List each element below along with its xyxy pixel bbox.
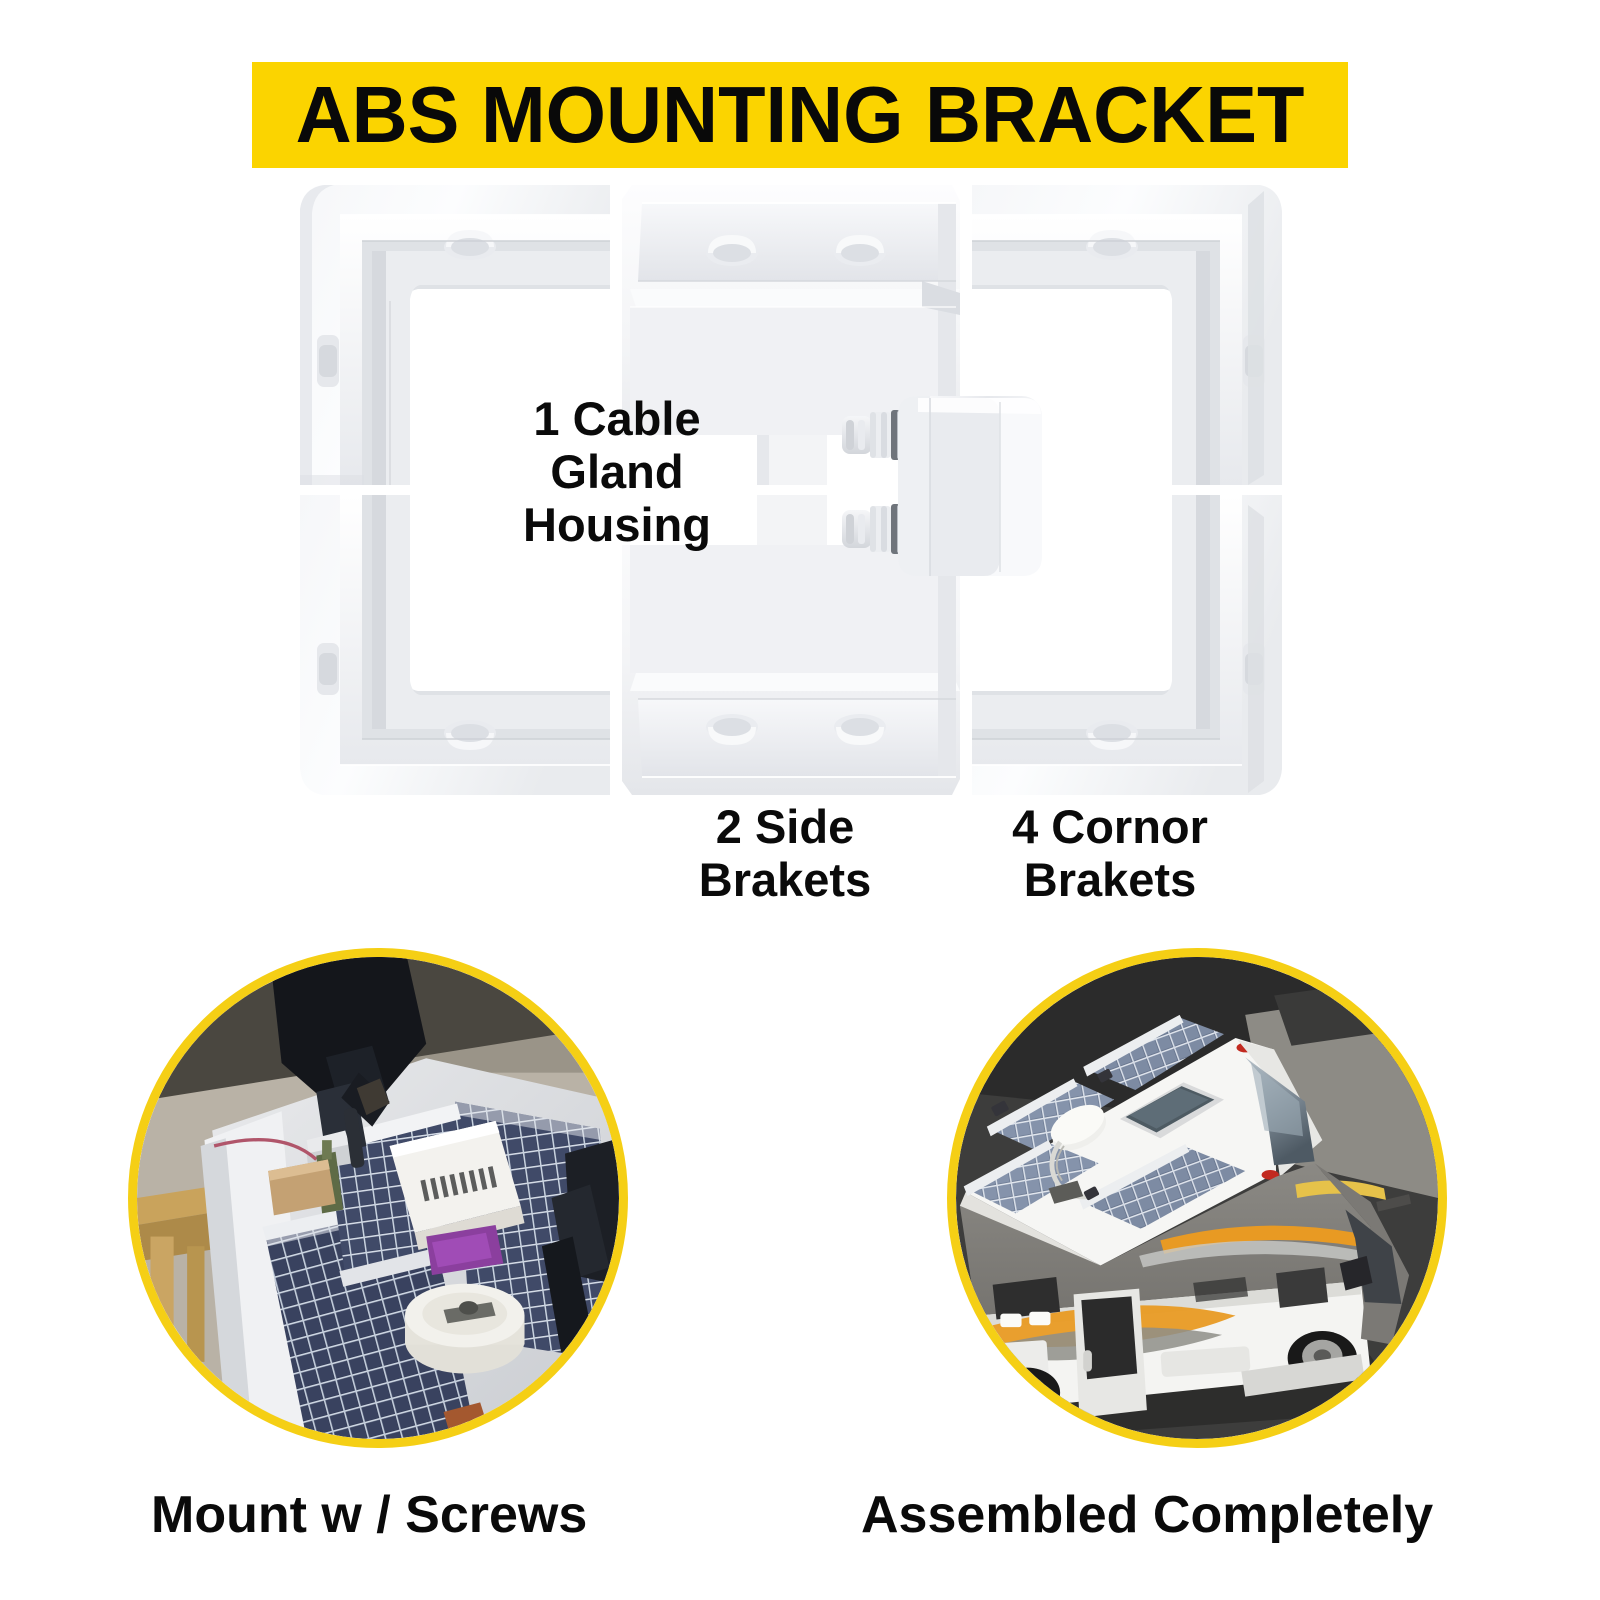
label-gland-line3: Housing xyxy=(486,498,748,551)
label-gland-line2: Gland xyxy=(486,445,748,498)
caption-assembled-completely: Assembled Completely xyxy=(861,1485,1433,1545)
roof-round-fitting xyxy=(405,1284,525,1374)
label-corner-line2: Brakets xyxy=(975,853,1245,906)
cable-gland-lower xyxy=(842,504,902,554)
photo-assembled-completely xyxy=(947,948,1447,1448)
label-cable-gland-housing: 1 Cable Gland Housing xyxy=(486,392,748,551)
label-side-brackets: 2 Side Brakets xyxy=(660,800,910,906)
rv-entry-door xyxy=(1074,1289,1147,1418)
cable-gland-upper xyxy=(842,410,902,460)
label-side-line2: Brakets xyxy=(660,853,910,906)
page-title: ABS MOUNTING BRACKET xyxy=(296,75,1305,155)
title-banner: ABS MOUNTING BRACKET xyxy=(252,62,1348,168)
label-corner-line1: 4 Cornor xyxy=(975,800,1245,853)
label-side-line1: 2 Side xyxy=(660,800,910,853)
photo-mount-with-screws xyxy=(128,948,628,1448)
product-exploded-view: 1 Cable Gland Housing xyxy=(300,185,1280,795)
label-gland-line1: 1 Cable xyxy=(486,392,748,445)
cable-gland-housing xyxy=(834,392,1046,582)
wheel-rear xyxy=(995,1368,1061,1418)
label-corner-brackets: 4 Cornor Brakets xyxy=(975,800,1245,906)
caption-mount-with-screws: Mount w / Screws xyxy=(151,1485,587,1545)
